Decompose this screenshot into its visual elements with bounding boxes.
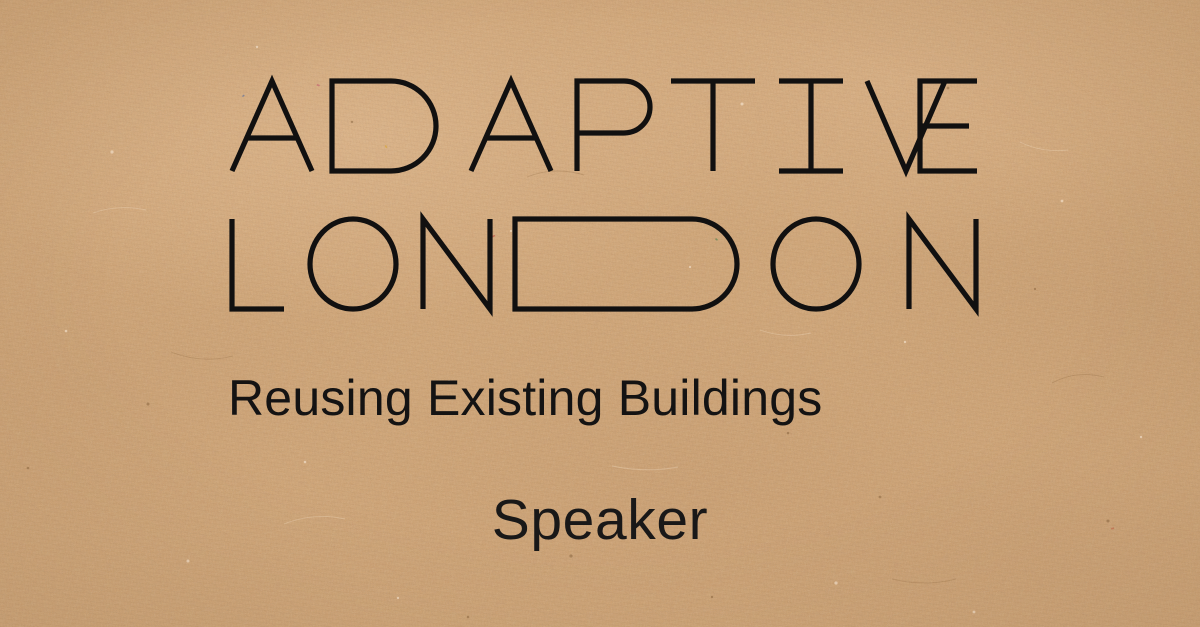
letter-L [232,219,284,309]
letter-P [577,81,650,171]
letter-D-stadium [332,81,436,171]
letter-A [471,81,551,171]
letter-A [232,81,312,171]
letter-D-stadium-wide [515,219,737,309]
headline-line-2 [228,209,980,319]
letter-N [423,219,490,309]
letter-N [909,219,976,309]
subtitle: Reusing Existing Buildings [228,369,980,427]
headline-line-1 [228,72,980,180]
letter-O [773,219,859,309]
poster-canvas: Reusing Existing Buildings Speaker [0,0,1200,627]
letter-T [671,81,755,171]
letter-E [920,81,977,171]
letter-O [310,219,396,309]
speaker-role-label: Speaker [0,488,1200,552]
poster-content: Reusing Existing Buildings Speaker [0,0,1200,627]
letter-I [779,81,843,171]
